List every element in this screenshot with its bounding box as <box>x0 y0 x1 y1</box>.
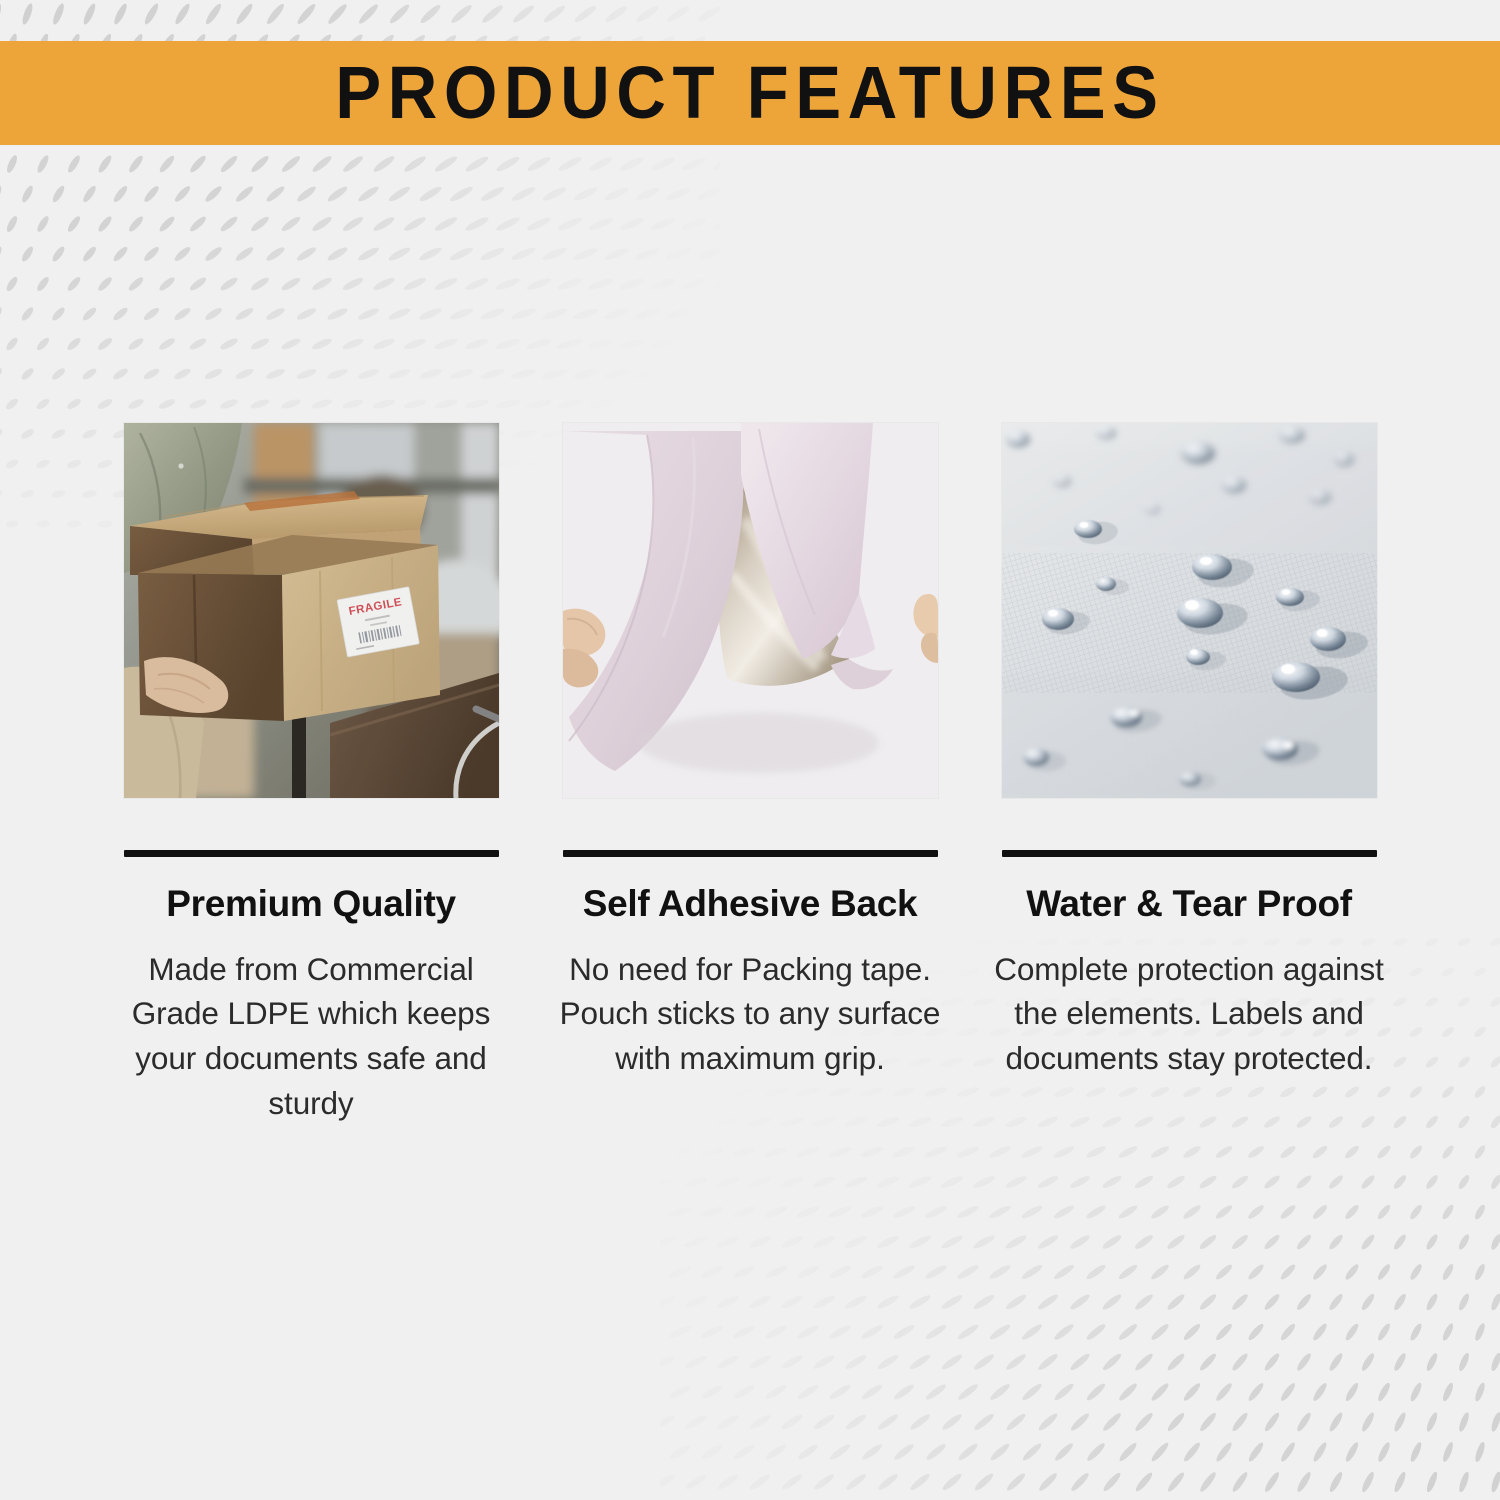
feature-heading: Self Adhesive Back <box>583 883 918 926</box>
divider-rule <box>563 850 938 857</box>
warehouse-worker-carrying-cardboard-boxes-photo: FRAGILE <box>124 423 499 798</box>
infographic-canvas: PRODUCT FEATURES <box>0 0 1500 1500</box>
divider-rule <box>124 850 499 857</box>
feature-card-premium-quality: FRAGILE <box>124 423 499 1125</box>
water-droplets-on-fabric-photo <box>1002 423 1377 798</box>
product-features-banner: PRODUCT FEATURES <box>0 41 1500 145</box>
page-title: PRODUCT FEATURES <box>335 56 1164 130</box>
self-adhesive-peel-backing-photo <box>563 423 938 798</box>
feature-card-self-adhesive-back: Self Adhesive Back No need for Packing t… <box>563 423 938 1081</box>
feature-heading: Premium Quality <box>166 883 456 926</box>
feature-description: Complete protection against the elements… <box>993 947 1385 1081</box>
divider-rule <box>1002 850 1377 857</box>
feature-description: No need for Packing tape. Pouch sticks t… <box>554 947 946 1081</box>
feature-description: Made from Commercial Grade LDPE which ke… <box>115 947 507 1126</box>
feature-heading: Water & Tear Proof <box>1026 883 1352 926</box>
feature-columns: FRAGILE <box>0 423 1500 1125</box>
feature-card-water-tear-proof: Water & Tear Proof Complete protection a… <box>1002 423 1377 1081</box>
